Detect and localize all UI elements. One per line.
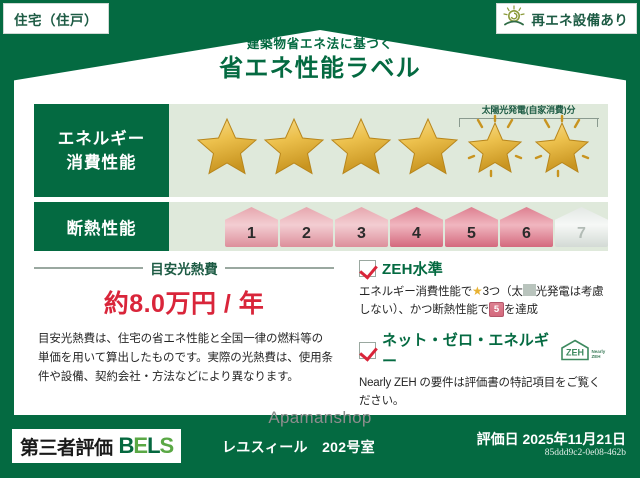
insulation-level-number: 6: [522, 225, 531, 243]
zeh-body-part2: 3つ（太: [483, 286, 523, 298]
utility-cost-value: 約8.0万円 / 年: [34, 284, 334, 320]
star-solar: [462, 114, 528, 178]
energy-performance-row: エネルギー 消費性能 太陽光発電(自家消費)分: [34, 104, 608, 197]
evaluation-id: 85ddd9c2-0e08-462b: [545, 448, 626, 458]
star-filled: [194, 114, 260, 178]
divider-left: [34, 267, 143, 269]
insulation-level: 3: [335, 207, 388, 247]
star-filled: [328, 114, 394, 178]
insulation-level-scale: 1 2 3 4 5: [225, 207, 608, 247]
third-party-evaluation-label: 第三者評価: [20, 433, 113, 460]
badge-renewable-energy: 再エネ設備あり: [496, 3, 637, 34]
zeh-standard-body: エネルギー消費性能で★3つ（太光発電は考慮しない）、かつ断熱性能で5を達成: [359, 282, 611, 319]
inline-level-chip: 5: [489, 302, 504, 317]
utility-cost-heading: 目安光熱費: [34, 258, 334, 278]
zeh-logo: ZEH Nearly ZEH: [560, 339, 611, 361]
insulation-level-number: 4: [412, 225, 421, 243]
zeh-house-icon: ZEH: [560, 339, 590, 361]
insulation-level-inactive: 7: [555, 207, 608, 247]
sun-icon: [501, 5, 527, 32]
insulation-performance-row: 断熱性能 1 2 3 4: [34, 202, 608, 251]
insulation-level-number: 2: [302, 225, 311, 243]
label-card: エネルギー 消費性能 太陽光発電(自家消費)分: [14, 90, 626, 415]
zeh-body-part4: を達成: [504, 304, 538, 316]
utility-cost-section: 目安光熱費 約8.0万円 / 年 目安光熱費は、住宅の省エネ性能と全国一律の燃料…: [34, 258, 334, 387]
check-icon: [359, 260, 376, 277]
insulation-level-number: 3: [357, 225, 366, 243]
energy-performance-field: 太陽光発電(自家消費)分: [169, 104, 608, 197]
svg-text:ZEH: ZEH: [566, 348, 584, 358]
check-icon: [359, 342, 376, 359]
insulation-level-number: 1: [247, 225, 256, 243]
star-solar: [529, 114, 595, 178]
zeh-body-part1: エネルギー消費性能で: [359, 286, 472, 298]
insulation-level: 1: [225, 207, 278, 247]
net-zero-body: Nearly ZEH の要件は評価書の特記項目をご覧ください。: [359, 374, 611, 410]
net-zero-title: ネット・ゼロ・エネルギー: [382, 329, 550, 371]
star-filled: [395, 114, 461, 178]
zeh-section: ZEH水準 エネルギー消費性能で★3つ（太光発電は考慮しない）、かつ断熱性能で5…: [359, 258, 611, 420]
badge-building-type-label: 住宅（住戸）: [14, 9, 98, 29]
zeh-standard-block: ZEH水準 エネルギー消費性能で★3つ（太光発電は考慮しない）、かつ断熱性能で5…: [359, 258, 611, 319]
insulation-performance-field: 1 2 3 4 5: [169, 202, 608, 251]
insulation-level: 4: [390, 207, 443, 247]
insulation-level-number: 5: [467, 225, 476, 243]
insulation-performance-label: 断熱性能: [34, 202, 169, 251]
bels-certification-logo: 第三者評価 BELS: [12, 429, 181, 463]
header-subtitle: 建築物省エネ法に基づく: [0, 36, 640, 52]
energy-star-rating: [194, 114, 595, 178]
insulation-level: 2: [280, 207, 333, 247]
header-titles: 建築物省エネ法に基づく 省エネ性能ラベル: [0, 36, 640, 84]
zeh-standard-header: ZEH水準: [359, 258, 611, 279]
utility-cost-note: 目安光熱費は、住宅の省エネ性能と全国一律の燃料等の単価を用いて算出したものです。…: [34, 330, 334, 387]
divider-right: [225, 267, 334, 269]
redacted-character: [523, 284, 536, 296]
insulation-level: 5: [445, 207, 498, 247]
insulation-level: 6: [500, 207, 553, 247]
star-filled: [261, 114, 327, 178]
zeh-logo-caption: Nearly ZEH: [592, 349, 611, 361]
badge-building-type: 住宅（住戸）: [3, 3, 109, 34]
page-title: 省エネ性能ラベル: [0, 54, 640, 84]
energy-label-line1: エネルギー: [58, 127, 146, 151]
zeh-standard-title: ZEH水準: [382, 258, 443, 279]
bels-wordmark: BELS: [119, 433, 174, 459]
net-zero-header: ネット・ゼロ・エネルギー ZEH Nearly ZEH: [359, 329, 611, 371]
evaluation-date: 評価日 2025年11月21日: [477, 429, 626, 449]
energy-label-line2: 消費性能: [67, 151, 137, 175]
watermark: Apamanshop: [0, 408, 640, 428]
inline-star-icon: ★: [472, 284, 483, 298]
badge-renewable-energy-label: 再エネ設備あり: [531, 9, 628, 29]
utility-cost-heading-label: 目安光熱費: [150, 258, 218, 278]
insulation-level-number: 7: [577, 225, 586, 243]
net-zero-block: ネット・ゼロ・エネルギー ZEH Nearly ZEH Nearly ZEH の…: [359, 329, 611, 410]
property-room-name: レユスィール 202号室: [222, 437, 375, 457]
energy-performance-label: エネルギー 消費性能: [34, 104, 169, 197]
